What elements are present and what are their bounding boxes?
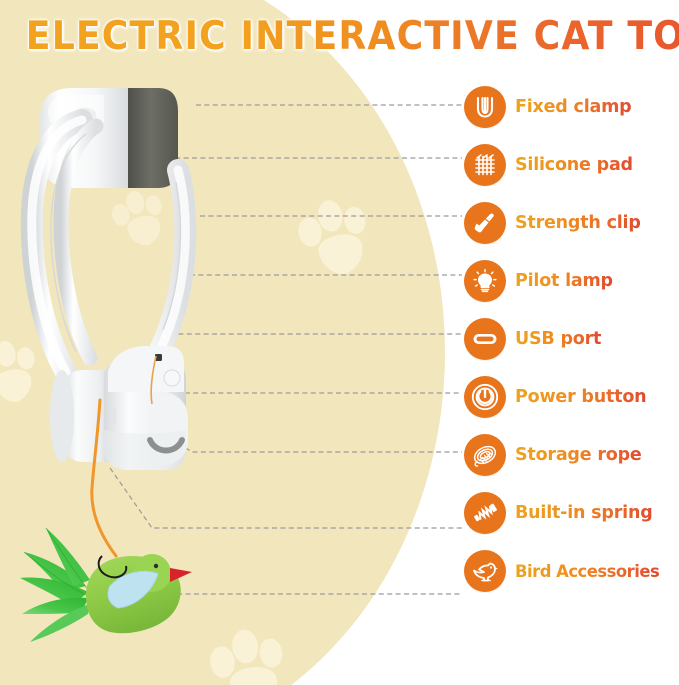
rope-coil-icon bbox=[464, 434, 506, 476]
power-button-icon bbox=[464, 376, 506, 418]
feature-label: Silicone pad bbox=[515, 155, 633, 175]
bird-feather-tail bbox=[20, 528, 90, 642]
feature-item-pilot-lamp[interactable]: Pilot lamp bbox=[464, 252, 679, 310]
feature-label: USB port bbox=[515, 329, 601, 349]
infographic-stage: ELECTRIC INTERACTIVE CAT TOY Fixed clamp bbox=[0, 0, 679, 685]
usb-port-part bbox=[110, 408, 116, 424]
bird-icon bbox=[464, 550, 506, 592]
feature-list: Fixed clamp Silicone pad bbox=[464, 78, 679, 600]
clamp-icon bbox=[464, 86, 506, 128]
bird-eye bbox=[154, 564, 158, 568]
feature-label: Fixed clamp bbox=[515, 97, 631, 117]
feature-item-power-button[interactable]: Power button bbox=[464, 368, 679, 426]
feature-label: Bird Accessories bbox=[515, 562, 659, 581]
feature-label: Pilot lamp bbox=[515, 271, 613, 291]
bird-accessory-toy bbox=[20, 528, 192, 642]
feature-item-bird-accessories[interactable]: Bird Accessories bbox=[464, 542, 679, 600]
feature-item-silicone-pad[interactable]: Silicone pad bbox=[464, 136, 679, 194]
title-container: ELECTRIC INTERACTIVE CAT TOY bbox=[0, 12, 679, 66]
usb-port-icon bbox=[464, 318, 506, 360]
feature-label: Power button bbox=[515, 387, 646, 407]
feature-item-strength-clip[interactable]: Strength clip bbox=[464, 194, 679, 252]
feature-label: Strength clip bbox=[515, 213, 641, 233]
silicone-pad-icon bbox=[464, 144, 506, 186]
feature-item-usb-port[interactable]: USB port bbox=[464, 310, 679, 368]
feature-label: Built-in spring bbox=[515, 503, 653, 523]
feature-item-fixed-clamp[interactable]: Fixed clamp bbox=[464, 78, 679, 136]
feature-item-built-in-spring[interactable]: Built-in spring bbox=[464, 484, 679, 542]
strength-clip-icon bbox=[464, 202, 506, 244]
lightbulb-icon bbox=[464, 260, 506, 302]
feature-item-storage-rope[interactable]: Storage rope bbox=[464, 426, 679, 484]
spring-icon bbox=[464, 492, 506, 534]
power-button-part bbox=[164, 370, 180, 386]
page-title: ELECTRIC INTERACTIVE CAT TOY bbox=[26, 12, 679, 62]
feature-label: Storage rope bbox=[515, 445, 642, 465]
bird-beak bbox=[170, 568, 192, 582]
